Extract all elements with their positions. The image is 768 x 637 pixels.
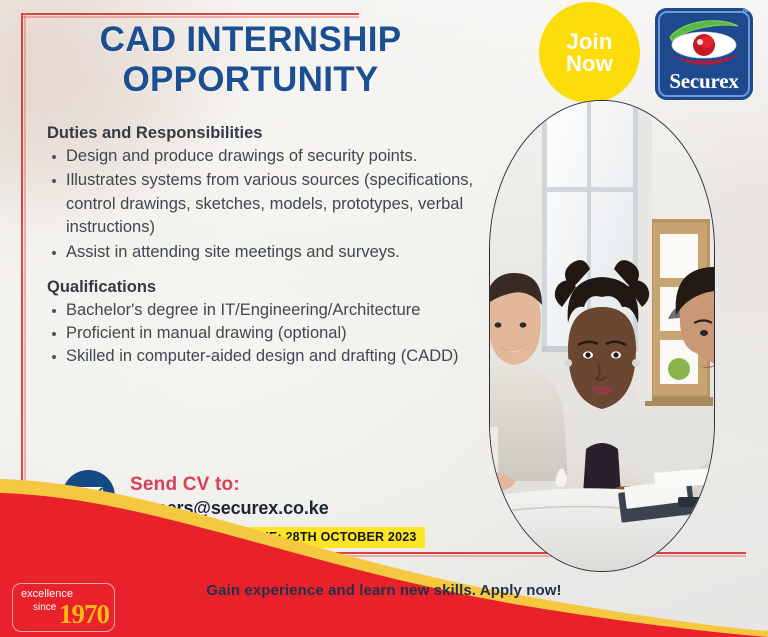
join-now-badge[interactable]: Join Now <box>539 2 640 103</box>
qualifications-heading: Qualifications <box>47 278 500 297</box>
bottom-wave-decoration <box>0 477 768 637</box>
title-line-2: OPPORTUNITY <box>38 60 463 100</box>
poster-title: CAD INTERNSHIP OPPORTUNITY <box>38 20 463 101</box>
eye-logo-icon <box>662 17 746 74</box>
frame-top-glow <box>21 16 359 18</box>
join-now-line-2: Now <box>566 53 613 75</box>
qualifications-list: Bachelor's degree in IT/Engineering/Arch… <box>45 299 500 367</box>
join-now-line-1: Join <box>566 31 612 53</box>
frame-top-line <box>21 13 359 15</box>
logo-brand-text: Securex <box>655 69 753 94</box>
duties-item: Design and produce drawings of security … <box>45 145 500 168</box>
poster-tagline: Gain experience and learn new skills. Ap… <box>0 582 768 599</box>
duties-heading: Duties and Responsibilities <box>47 124 500 143</box>
title-line-1: CAD INTERNSHIP <box>38 20 463 60</box>
qualifications-item: Proficient in manual drawing (optional) <box>45 322 500 344</box>
poster-body: Duties and Responsibilities Design and p… <box>45 124 500 368</box>
trademark-symbol: ™ <box>742 9 749 16</box>
securex-logo: ™ Securex <box>655 8 753 100</box>
duties-item: Assist in attending site meetings and su… <box>45 241 500 264</box>
qualifications-item: Skilled in computer-aided design and dra… <box>45 345 500 367</box>
excellence-year: 1970 <box>59 599 109 630</box>
recruitment-poster: CAD INTERNSHIP OPPORTUNITY Join Now ™ Se… <box>0 0 768 637</box>
qualifications-item: Bachelor's degree in IT/Engineering/Arch… <box>45 299 500 321</box>
duties-item: Illustrates systems from various sources… <box>45 169 500 239</box>
duties-list: Design and produce drawings of security … <box>45 145 500 264</box>
